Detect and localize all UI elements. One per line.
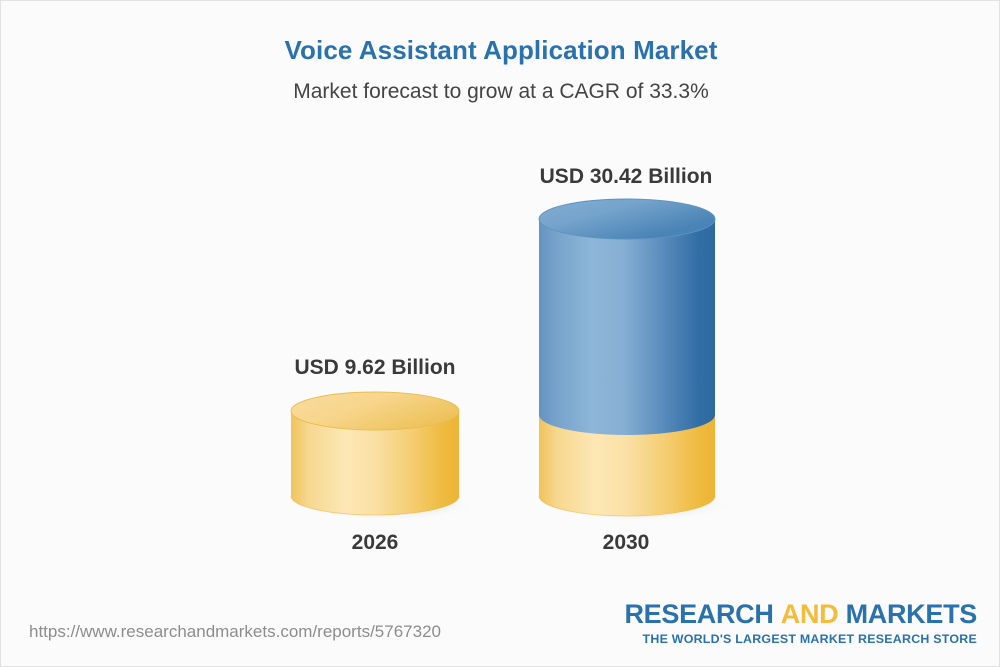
logo-word-markets: MARKETS [846,599,977,629]
logo-word-research: RESEARCH [624,599,773,629]
bar-segment-2030-top [539,219,715,435]
data-label-2030: USD 30.42 Billion [476,165,776,189]
report-url[interactable]: https://www.researchandmarkets.com/repor… [29,622,441,642]
research-and-markets-logo[interactable]: RESEARCH AND MARKETS THE WORLD'S LARGEST… [624,601,977,645]
infographic-chart-card: Voice Assistant Application Market Marke… [0,0,1000,667]
bar-cylinder-2030[interactable] [531,197,741,529]
bar-cylinder-2026[interactable] [283,389,483,529]
data-label-2026: USD 9.62 Billion [225,356,525,380]
axis-label-2030: 2030 [476,531,776,555]
chart-plot-area: USD 9.62 Billion USD 30.42 Billion [1,1,1000,667]
logo-tagline: THE WORLD'S LARGEST MARKET RESEARCH STOR… [624,633,977,645]
logo-wordmark: RESEARCH AND MARKETS [624,601,977,628]
logo-word-and: AND [781,599,839,629]
